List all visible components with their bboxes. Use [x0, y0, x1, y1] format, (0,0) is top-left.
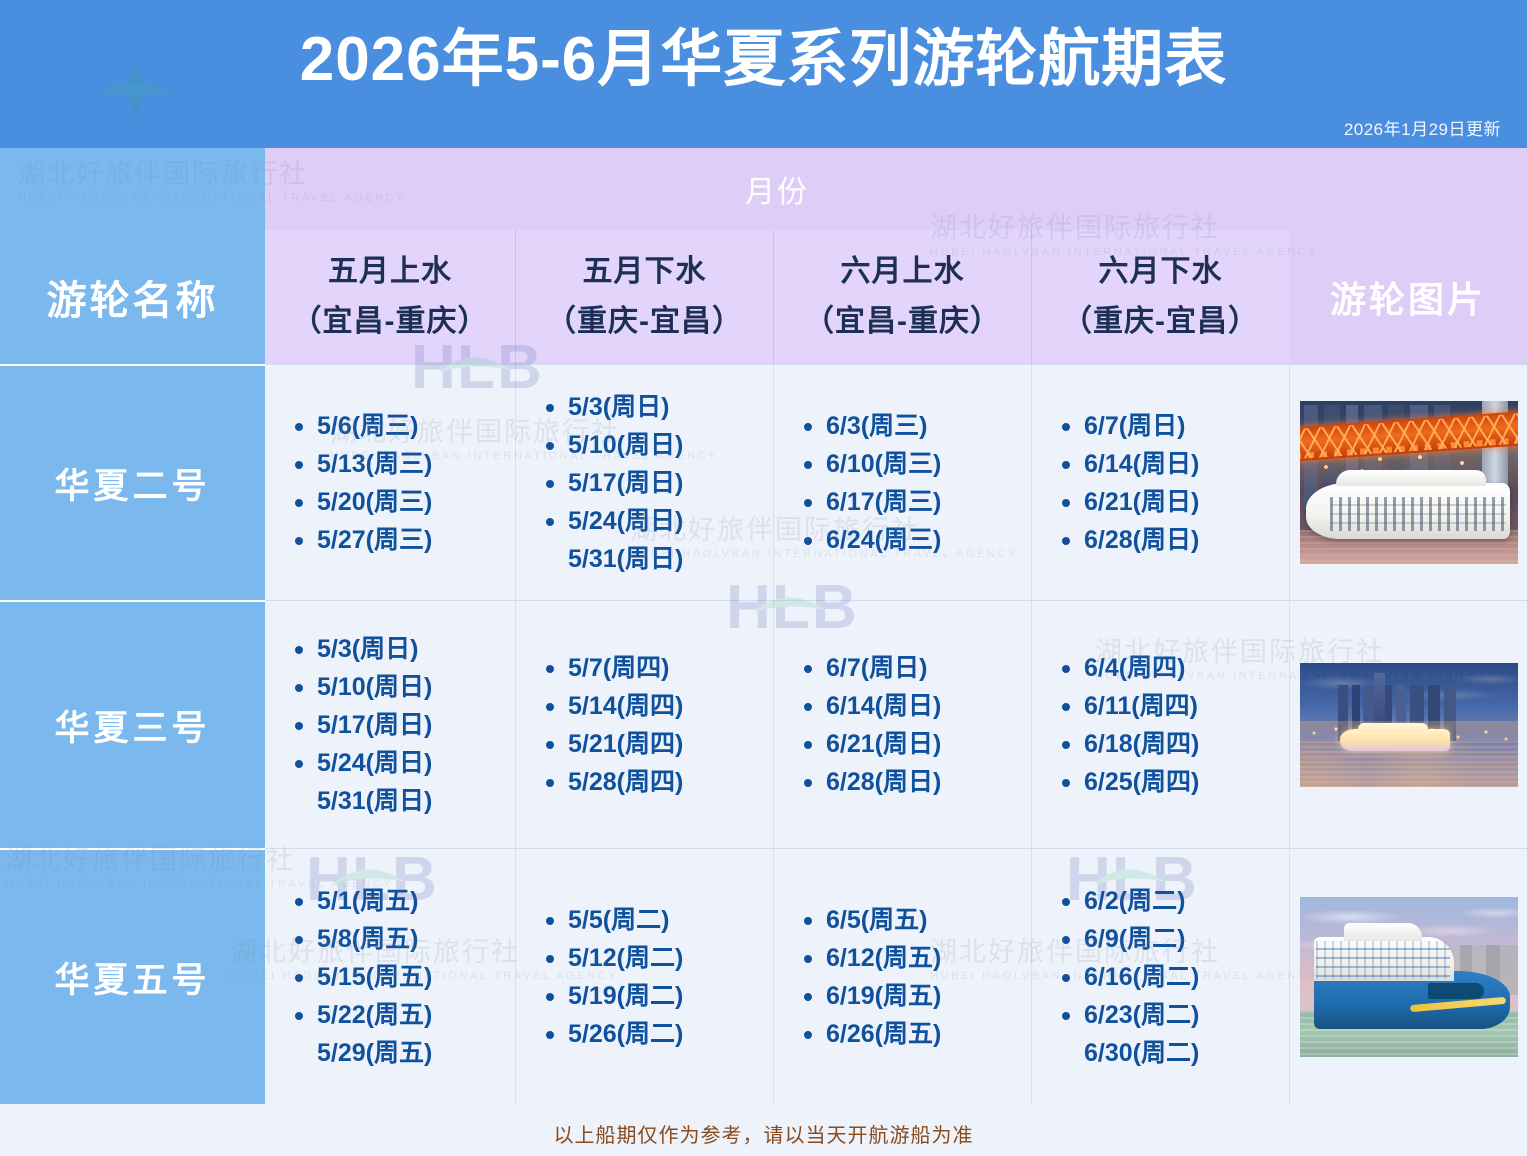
table-cell-may-upstream: 5/1(周五)5/8(周五)5/15(周五)5/22(周五)5/29(周五) [265, 848, 515, 1104]
update-date: 2026年1月29日更新 [1344, 115, 1501, 140]
date-list: 5/3(周日)5/10(周日)5/17(周日)5/24(周日)5/31(周日) [534, 388, 773, 578]
date-item: 6/21(周日) [1050, 483, 1289, 521]
date-item: 5/8(周五) [283, 920, 515, 958]
date-item: 6/3(周三) [792, 407, 1031, 445]
date-item: 6/19(周五) [792, 977, 1031, 1015]
date-item: 6/23(周二) [1050, 996, 1289, 1034]
ship-photo-huaxia-2 [1300, 401, 1518, 564]
date-item: 6/9(周二) [1050, 920, 1289, 958]
header-may-upstream-line1: 五月上水 [328, 247, 452, 297]
date-item: 5/26(周二) [534, 1015, 773, 1053]
date-item: 6/11(周四) [1050, 687, 1289, 725]
date-item: 5/15(周五) [283, 958, 515, 996]
header-jun-downstream: 六月下水 （重庆-宜昌） [1031, 230, 1289, 364]
date-item: 5/29(周五) [283, 1034, 515, 1072]
date-item: 6/17(周三) [792, 483, 1031, 521]
header-jun-upstream-line1: 六月上水 [841, 247, 965, 297]
date-item: 6/10(周三) [792, 445, 1031, 483]
table-cell-ship-photo [1289, 600, 1527, 848]
date-item: 5/24(周日) [283, 744, 515, 782]
months-group-header: 月份 [265, 148, 1289, 230]
header-ship-photo: 游轮图片 [1289, 230, 1527, 364]
header-jun-downstream-line1: 六月下水 [1099, 247, 1223, 297]
date-list: 6/4(周四)6/11(周四)6/18(周四)6/25(周四) [1050, 649, 1289, 801]
photo-header-top [1289, 148, 1527, 230]
table-cell-jun-downstream: 6/7(周日)6/14(周日)6/21(周日)6/28(周日) [1031, 364, 1289, 600]
date-item: 5/24(周日) [534, 502, 773, 540]
table-row-ship-name: 华夏三号 [0, 600, 265, 848]
page-banner: 2026年5-6月华夏系列游轮航期表 2026年1月29日更新 [0, 0, 1527, 148]
table-cell-jun-upstream: 6/5(周五)6/12(周五)6/19(周五)6/26(周五) [773, 848, 1031, 1104]
date-item: 5/14(周四) [534, 687, 773, 725]
table-cell-ship-photo [1289, 364, 1527, 600]
date-item: 5/12(周二) [534, 939, 773, 977]
date-list: 5/3(周日)5/10(周日)5/17(周日)5/24(周日)5/31(周日) [283, 630, 515, 820]
date-item: 5/22(周五) [283, 996, 515, 1034]
table-cell-jun-upstream: 6/3(周三)6/10(周三)6/17(周三)6/24(周三) [773, 364, 1031, 600]
header-may-downstream: 五月下水 （重庆-宜昌） [515, 230, 773, 364]
page-title: 2026年5-6月华夏系列游轮航期表 [0, 22, 1527, 98]
date-item: 5/21(周四) [534, 725, 773, 763]
date-item: 6/16(周二) [1050, 958, 1289, 996]
header-jun-upstream: 六月上水 （宜昌-重庆） [773, 230, 1031, 364]
date-item: 6/21(周日) [792, 725, 1031, 763]
table-cell-jun-upstream: 6/7(周日)6/14(周日)6/21(周日)6/28(周日) [773, 600, 1031, 848]
date-item: 6/24(周三) [792, 521, 1031, 559]
header-may-downstream-line2: （重庆-宜昌） [546, 297, 743, 347]
date-list: 5/6(周三)5/13(周三)5/20(周三)5/27(周三) [283, 407, 515, 559]
header-may-downstream-line1: 五月下水 [583, 247, 707, 297]
date-item: 5/1(周五) [283, 882, 515, 920]
table-cell-jun-downstream: 6/2(周二)6/9(周二)6/16(周二)6/23(周二)6/30(周二) [1031, 848, 1289, 1104]
header-jun-upstream-line2: （宜昌-重庆） [804, 297, 1001, 347]
date-list: 6/5(周五)6/12(周五)6/19(周五)6/26(周五) [792, 901, 1031, 1053]
date-item: 5/6(周三) [283, 407, 515, 445]
table-cell-may-upstream: 5/3(周日)5/10(周日)5/17(周日)5/24(周日)5/31(周日) [265, 600, 515, 848]
date-item: 5/10(周日) [534, 426, 773, 464]
date-list: 6/7(周日)6/14(周日)6/21(周日)6/28(周日) [792, 649, 1031, 801]
date-item: 6/12(周五) [792, 939, 1031, 977]
date-item: 6/14(周日) [792, 687, 1031, 725]
date-item: 5/20(周三) [283, 483, 515, 521]
date-item: 5/13(周三) [283, 445, 515, 483]
date-item: 6/26(周五) [792, 1015, 1031, 1053]
date-item: 6/18(周四) [1050, 725, 1289, 763]
date-item: 5/7(周四) [534, 649, 773, 687]
date-item: 5/3(周日) [283, 630, 515, 668]
date-item: 5/31(周日) [534, 540, 773, 578]
date-list: 5/7(周四)5/14(周四)5/21(周四)5/28(周四) [534, 649, 773, 801]
date-list: 5/1(周五)5/8(周五)5/15(周五)5/22(周五)5/29(周五) [283, 882, 515, 1072]
table-cell-may-downstream: 5/3(周日)5/10(周日)5/17(周日)5/24(周日)5/31(周日) [515, 364, 773, 600]
date-item: 6/5(周五) [792, 901, 1031, 939]
table-row-ship-name: 华夏五号 [0, 848, 265, 1104]
table-cell-may-upstream: 5/6(周三)5/13(周三)5/20(周三)5/27(周三) [265, 364, 515, 600]
header-may-upstream-line2: （宜昌-重庆） [292, 297, 489, 347]
ship-photo-huaxia-3 [1300, 663, 1518, 787]
date-item: 5/5(周二) [534, 901, 773, 939]
date-list: 5/5(周二)5/12(周二)5/19(周二)5/26(周二) [534, 901, 773, 1053]
date-item: 6/28(周日) [1050, 521, 1289, 559]
date-list: 6/3(周三)6/10(周三)6/17(周三)6/24(周三) [792, 407, 1031, 559]
date-item: 6/2(周二) [1050, 882, 1289, 920]
date-item: 5/31(周日) [283, 782, 515, 820]
table-row-ship-name: 华夏二号 [0, 364, 265, 600]
schedule-table: 湖北好旅伴国际旅行社HUBEI HAOLVBAN INTERNATIONAL T… [0, 148, 1527, 1110]
corner-cell-top [0, 148, 265, 230]
date-item: 5/10(周日) [283, 668, 515, 706]
date-item: 6/4(周四) [1050, 649, 1289, 687]
date-item: 6/25(周四) [1050, 763, 1289, 801]
table-cell-ship-photo [1289, 848, 1527, 1104]
table-cell-may-downstream: 5/5(周二)5/12(周二)5/19(周二)5/26(周二) [515, 848, 773, 1104]
date-item: 5/3(周日) [534, 388, 773, 426]
date-item: 6/28(周日) [792, 763, 1031, 801]
date-item: 5/28(周四) [534, 763, 773, 801]
date-item: 6/7(周日) [792, 649, 1031, 687]
table-cell-jun-downstream: 6/4(周四)6/11(周四)6/18(周四)6/25(周四) [1031, 600, 1289, 848]
table-cell-may-downstream: 5/7(周四)5/14(周四)5/21(周四)5/28(周四) [515, 600, 773, 848]
date-item: 6/14(周日) [1050, 445, 1289, 483]
ship-photo-huaxia-5 [1300, 897, 1518, 1057]
footer-note: 以上船期仅作为参考，请以当天开航游船为准 [0, 1110, 1527, 1156]
header-jun-downstream-line2: （重庆-宜昌） [1062, 297, 1259, 347]
date-list: 6/2(周二)6/9(周二)6/16(周二)6/23(周二)6/30(周二) [1050, 882, 1289, 1072]
date-list: 6/7(周日)6/14(周日)6/21(周日)6/28(周日) [1050, 407, 1289, 559]
date-item: 6/30(周二) [1050, 1034, 1289, 1072]
schedule-poster: 2026年5-6月华夏系列游轮航期表 2026年1月29日更新 湖北好旅伴国际旅… [0, 0, 1527, 1156]
date-item: 5/17(周日) [283, 706, 515, 744]
date-item: 5/19(周二) [534, 977, 773, 1015]
date-item: 5/17(周日) [534, 464, 773, 502]
header-ship-name: 游轮名称 [0, 230, 265, 364]
header-may-upstream: 五月上水 （宜昌-重庆） [265, 230, 515, 364]
date-item: 5/27(周三) [283, 521, 515, 559]
date-item: 6/7(周日) [1050, 407, 1289, 445]
